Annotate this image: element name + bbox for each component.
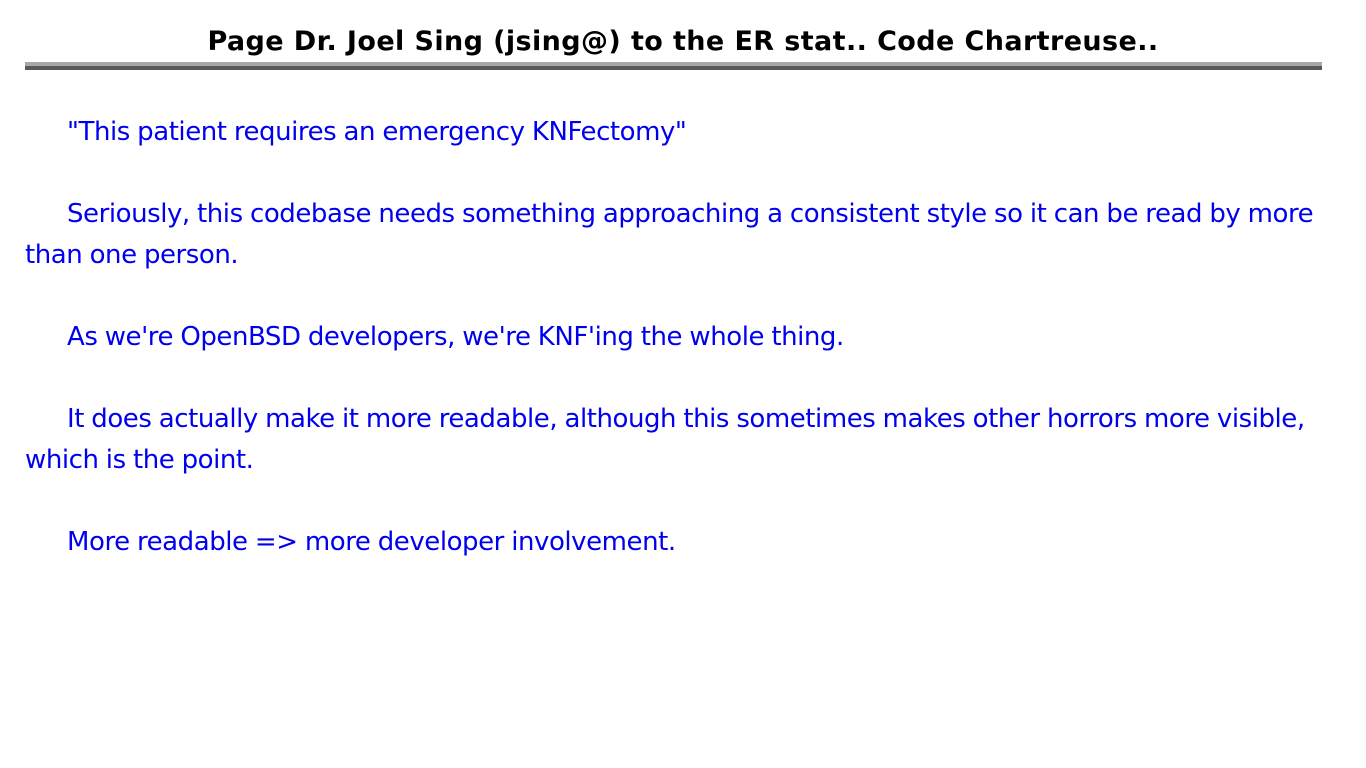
slide-header: Page Dr. Joel Sing (jsing@) to the ER st… [0,0,1366,72]
slide-paragraph-4: It does actually make it more readable, … [25,399,1315,481]
slide-paragraph-5: More readable => more developer involvem… [25,522,1315,563]
slide-title: Page Dr. Joel Sing (jsing@) to the ER st… [0,25,1366,59]
presentation-slide: Page Dr. Joel Sing (jsing@) to the ER st… [0,0,1366,768]
rule-shadow-band [25,66,1322,70]
slide-paragraph-1: "This patient requires an emergency KNFe… [25,112,1315,153]
slide-body: "This patient requires an emergency KNFe… [25,112,1315,563]
slide-paragraph-2: Seriously, this codebase needs something… [25,194,1315,276]
slide-paragraph-3: As we're OpenBSD developers, we're KNF'i… [25,317,1315,358]
title-divider-rule [25,62,1322,70]
